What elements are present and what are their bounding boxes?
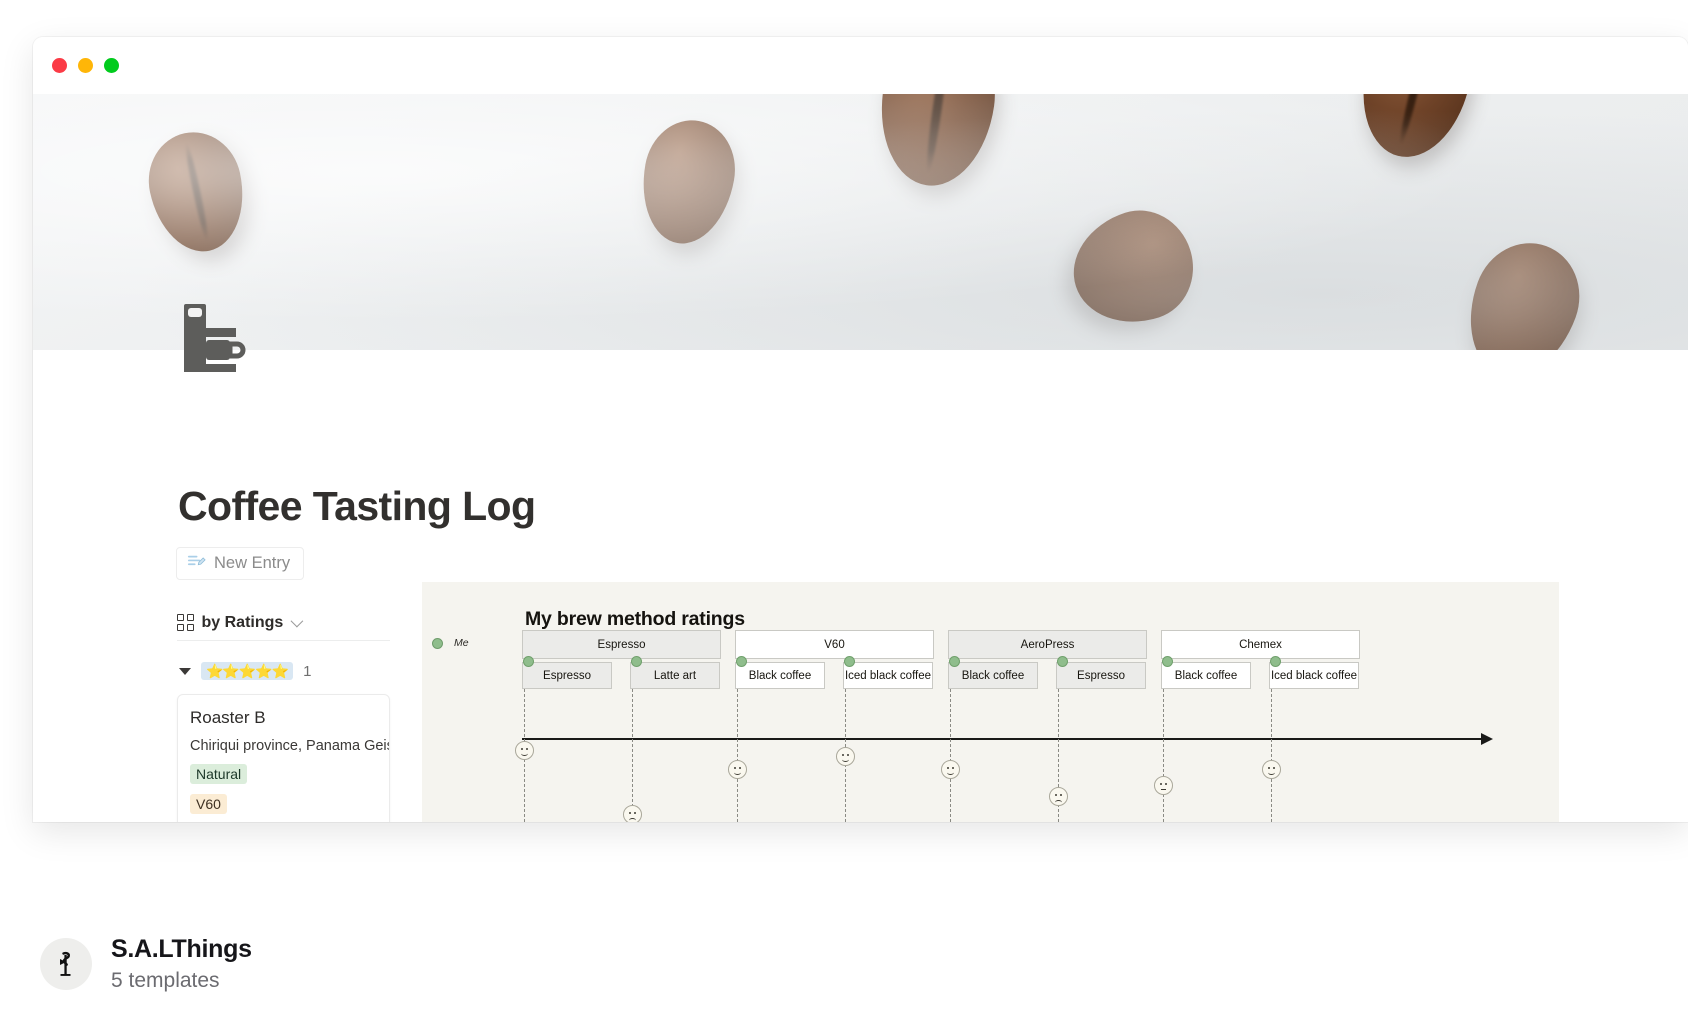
drink-box-aeropress-espresso[interactable]: Espresso (1056, 662, 1146, 689)
connector-line (737, 689, 738, 822)
group-header[interactable]: ⭐⭐⭐⭐⭐ 1 (177, 657, 390, 685)
group-count: 1 (303, 663, 311, 680)
bean-crease (1397, 94, 1434, 146)
drink-box-v60-black-coffee[interactable]: Black coffee (735, 662, 825, 689)
new-entry-pencil-icon (187, 552, 206, 576)
rating-face-happy-icon[interactable] (1262, 760, 1281, 779)
coffee-bean-icon (871, 94, 1003, 193)
diagram-legend: Me (432, 637, 469, 649)
node-dot-icon (523, 656, 534, 667)
coffee-bean-icon (1348, 94, 1483, 169)
node-dot-icon (844, 656, 855, 667)
node-dot-icon (1162, 656, 1173, 667)
method-box-chemex[interactable]: Chemex (1161, 630, 1360, 659)
diagram-axis (522, 738, 1482, 740)
drink-box-chemex-iced-black-coffee[interactable]: Iced black coffee (1269, 662, 1359, 689)
card-description: Chiriqui province, Panama Geisha (190, 738, 389, 754)
drink-box-chemex-black-coffee[interactable]: Black coffee (1161, 662, 1251, 689)
connector-line (632, 689, 633, 822)
coffee-machine-icon (178, 302, 250, 374)
method-box-v60[interactable]: V60 (735, 630, 934, 659)
node-dot-icon (1057, 656, 1068, 667)
rating-face-neutral-icon[interactable] (1154, 776, 1173, 795)
card-title: Roaster B (190, 708, 389, 728)
template-count: 5 templates (111, 969, 252, 993)
bean-crease (183, 142, 211, 242)
salthings-logo-icon (49, 947, 83, 981)
new-entry-button[interactable]: New Entry (176, 547, 304, 580)
bean-crease (924, 94, 951, 174)
legend-label: Me (454, 637, 469, 649)
card-tag-process: Natural (190, 764, 247, 784)
rating-face-happy-icon[interactable] (941, 760, 960, 779)
drink-box-espresso-latte-art[interactable]: Latte art (630, 662, 720, 689)
new-entry-label: New Entry (214, 554, 290, 573)
node-dot-icon (631, 656, 642, 667)
view-label: by Ratings (202, 614, 284, 632)
chevron-down-icon[interactable] (291, 615, 304, 628)
traffic-light-buttons (52, 58, 119, 73)
legend-swatch-icon (432, 638, 443, 649)
node-dot-icon (949, 656, 960, 667)
avatar (40, 938, 92, 990)
close-button[interactable] (52, 58, 67, 73)
rating-face-happy-icon[interactable] (836, 747, 855, 766)
rating-face-happy-icon[interactable] (515, 741, 534, 760)
diagram-title: My brew method ratings (525, 608, 745, 631)
maximize-button[interactable] (104, 58, 119, 73)
method-box-aeropress[interactable]: AeroPress (948, 630, 1147, 659)
view-selector[interactable]: by Ratings (177, 605, 390, 641)
board-card[interactable]: Roaster B Chiriqui province, Panama Geis… (177, 694, 390, 822)
rating-face-sad-icon[interactable] (1049, 787, 1068, 806)
connector-line (950, 689, 951, 822)
minimize-button[interactable] (78, 58, 93, 73)
board-column: ⭐⭐⭐⭐⭐ 1 Roaster B Chiriqui province, Pan… (177, 653, 390, 822)
node-dot-icon (736, 656, 747, 667)
connector-line (1163, 689, 1164, 822)
page-cover-image (33, 94, 1688, 350)
rating-face-sad-icon[interactable] (623, 805, 642, 822)
page-title: Coffee Tasting Log (178, 483, 535, 530)
template-author-footer[interactable]: S.A.LThings 5 templates (40, 935, 252, 993)
card-tag-method: V60 (190, 794, 227, 814)
method-box-espresso[interactable]: Espresso (522, 630, 721, 659)
drink-box-espresso-espresso[interactable]: Espresso (522, 662, 612, 689)
board-grid-icon (177, 614, 194, 631)
coffee-bean-icon (1451, 228, 1595, 350)
brew-method-diagram[interactable]: My brew method ratings Me Espresso V60 A… (422, 582, 1559, 822)
coffee-bean-icon (140, 124, 255, 261)
author-name: S.A.LThings (111, 935, 252, 964)
rating-face-happy-icon[interactable] (728, 760, 747, 779)
drink-box-aeropress-black-coffee[interactable]: Black coffee (948, 662, 1038, 689)
caret-down-icon[interactable] (179, 668, 191, 675)
connector-line (1271, 689, 1272, 822)
window-titlebar (33, 37, 1688, 94)
coffee-bean-icon (633, 113, 743, 251)
rating-stars-badge: ⭐⭐⭐⭐⭐ (201, 662, 293, 680)
drink-box-v60-iced-black-coffee[interactable]: Iced black coffee (843, 662, 933, 689)
axis-arrow-icon (1481, 733, 1493, 745)
node-dot-icon (1270, 656, 1281, 667)
coffee-bean-icon (1059, 197, 1207, 339)
